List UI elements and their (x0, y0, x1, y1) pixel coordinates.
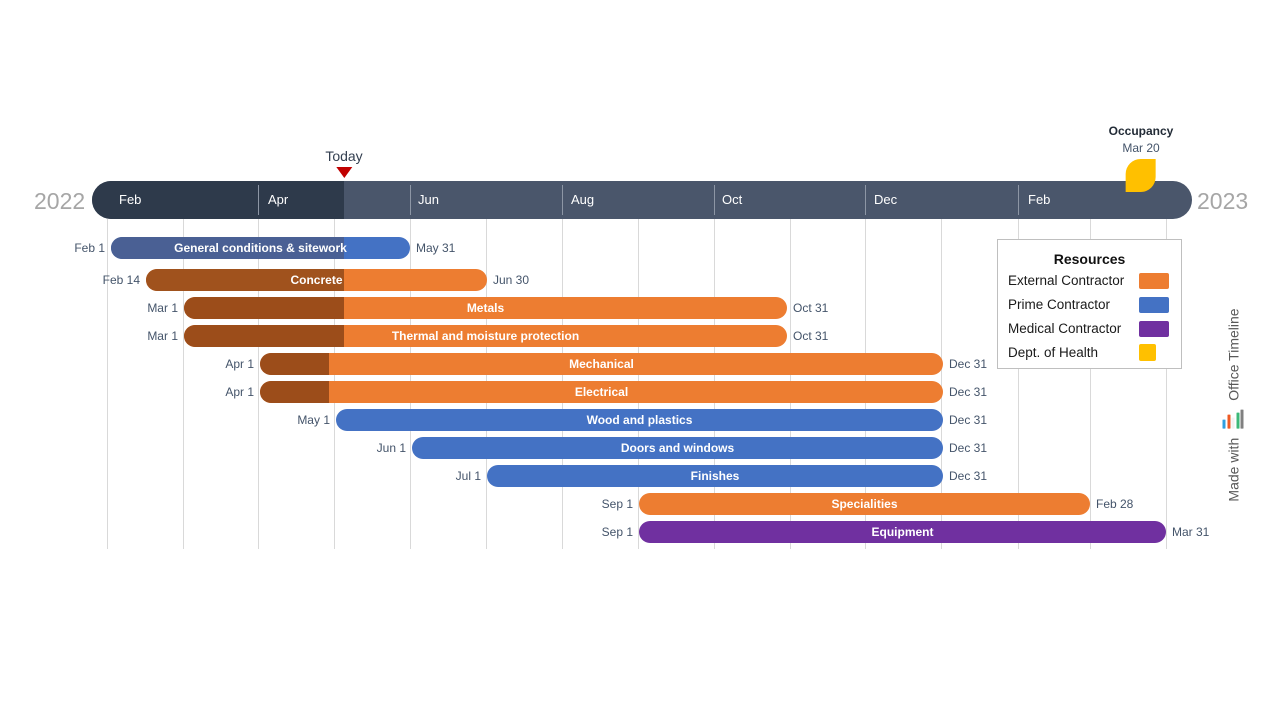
task-start-date: Feb 1 (1, 237, 105, 259)
task-start-date: Sep 1 (529, 521, 633, 543)
task-label: Metals (184, 297, 787, 319)
task-end-date: May 31 (416, 237, 526, 259)
year-label-right: 2023 (1197, 188, 1248, 215)
gantt-row: May 1Wood and plasticsDec 31 (0, 409, 1280, 431)
task-end-date: Feb 28 (1096, 493, 1206, 515)
task-end-date: Mar 31 (1172, 521, 1280, 543)
task-end-date: Jun 30 (493, 269, 603, 291)
legend-title: Resources (998, 251, 1181, 267)
task-start-date: Apr 1 (150, 353, 254, 375)
task-bar[interactable]: Concrete (146, 269, 487, 291)
legend-swatch (1139, 344, 1156, 361)
task-bar[interactable]: Finishes (487, 465, 943, 487)
legend-swatch (1139, 273, 1169, 289)
legend-item[interactable]: Prime Contractor (1008, 294, 1181, 315)
timeband-separator (714, 185, 715, 215)
timeband-month-jun-2: Jun (418, 192, 439, 207)
legend-item[interactable]: Dept. of Health (1008, 342, 1181, 363)
timeband-separator (865, 185, 866, 215)
task-start-date: Mar 1 (74, 325, 178, 347)
task-label: Thermal and moisture protection (184, 325, 787, 347)
task-start-date: Feb 14 (36, 269, 140, 291)
milestone-date: Mar 20 (1109, 141, 1174, 155)
year-label-left: 2022 (34, 188, 85, 215)
timeband-separator (1018, 185, 1019, 215)
task-end-date: Oct 31 (793, 325, 903, 347)
legend-item-label: Dept. of Health (1008, 345, 1098, 360)
task-end-date: Dec 31 (949, 409, 1059, 431)
timeband-month-apr-1: Apr (268, 192, 288, 207)
milestone-diamond-icon (1126, 159, 1156, 192)
timeband-separator (410, 185, 411, 215)
milestone-label: Occupancy (1109, 124, 1174, 138)
timeband-month-feb-6: Feb (1028, 192, 1050, 207)
timeband-month-aug-3: Aug (571, 192, 594, 207)
timeband-separator (562, 185, 563, 215)
timeband-separator (258, 185, 259, 215)
task-bar[interactable]: Doors and windows (412, 437, 943, 459)
task-label: General conditions & sitework (111, 237, 410, 259)
gantt-row: Jul 1FinishesDec 31 (0, 465, 1280, 487)
task-start-date: Jul 1 (377, 465, 481, 487)
today-marker-label: Today (325, 148, 362, 164)
timeline-header-band[interactable]: FebAprJunAugOctDecFeb (92, 181, 1192, 219)
office-timeline-logo-icon (1223, 410, 1244, 429)
legend-swatch (1139, 297, 1169, 313)
task-bar[interactable]: Wood and plastics (336, 409, 943, 431)
task-bar[interactable]: Equipment (639, 521, 1166, 543)
today-marker[interactable]: Today (325, 148, 362, 178)
gantt-row: Apr 1ElectricalDec 31 (0, 381, 1280, 403)
legend-panel: Resources External ContractorPrime Contr… (997, 239, 1182, 369)
task-label: Equipment (639, 521, 1166, 543)
task-label: Finishes (487, 465, 943, 487)
legend-items: External ContractorPrime ContractorMedic… (998, 270, 1181, 363)
watermark-prefix: Made with (1225, 438, 1241, 502)
timeband-month-feb-0: Feb (119, 192, 141, 207)
task-bar[interactable]: Thermal and moisture protection (184, 325, 787, 347)
legend-item-label: Prime Contractor (1008, 297, 1110, 312)
task-bar[interactable]: Metals (184, 297, 787, 319)
legend-item-label: External Contractor (1008, 273, 1124, 288)
watermark-brand: Office Timeline (1225, 308, 1241, 400)
task-start-date: Sep 1 (529, 493, 633, 515)
legend-item[interactable]: Medical Contractor (1008, 318, 1181, 339)
gantt-row: Sep 1EquipmentMar 31 (0, 521, 1280, 543)
gantt-row: Sep 1SpecialitiesFeb 28 (0, 493, 1280, 515)
task-end-date: Dec 31 (949, 465, 1059, 487)
task-start-date: May 1 (226, 409, 330, 431)
timeband-month-oct-4: Oct (722, 192, 742, 207)
legend-item[interactable]: External Contractor (1008, 270, 1181, 291)
task-bar[interactable]: General conditions & sitework (111, 237, 410, 259)
task-label: Electrical (260, 381, 943, 403)
task-bar[interactable]: Electrical (260, 381, 943, 403)
legend-item-label: Medical Contractor (1008, 321, 1121, 336)
task-bar[interactable]: Specialities (639, 493, 1090, 515)
task-end-date: Oct 31 (793, 297, 903, 319)
task-end-date: Dec 31 (949, 437, 1059, 459)
task-start-date: Mar 1 (74, 297, 178, 319)
office-timeline-watermark: Made with Office Timeline (1222, 290, 1244, 520)
task-bar[interactable]: Mechanical (260, 353, 943, 375)
task-label: Specialities (639, 493, 1090, 515)
task-label: Concrete (146, 269, 487, 291)
task-start-date: Jun 1 (302, 437, 406, 459)
gantt-row: Jun 1Doors and windowsDec 31 (0, 437, 1280, 459)
milestone-occupancy[interactable]: Occupancy Mar 20 (1109, 124, 1174, 192)
task-end-date: Dec 31 (949, 381, 1059, 403)
legend-swatch (1139, 321, 1169, 337)
task-label: Doors and windows (412, 437, 943, 459)
today-arrow-icon (336, 167, 352, 178)
task-label: Wood and plastics (336, 409, 943, 431)
task-start-date: Apr 1 (150, 381, 254, 403)
gantt-chart-canvas: 2022 2023 FebAprJunAugOctDecFeb Today Oc… (0, 0, 1280, 720)
timeband-month-dec-5: Dec (874, 192, 897, 207)
task-label: Mechanical (260, 353, 943, 375)
